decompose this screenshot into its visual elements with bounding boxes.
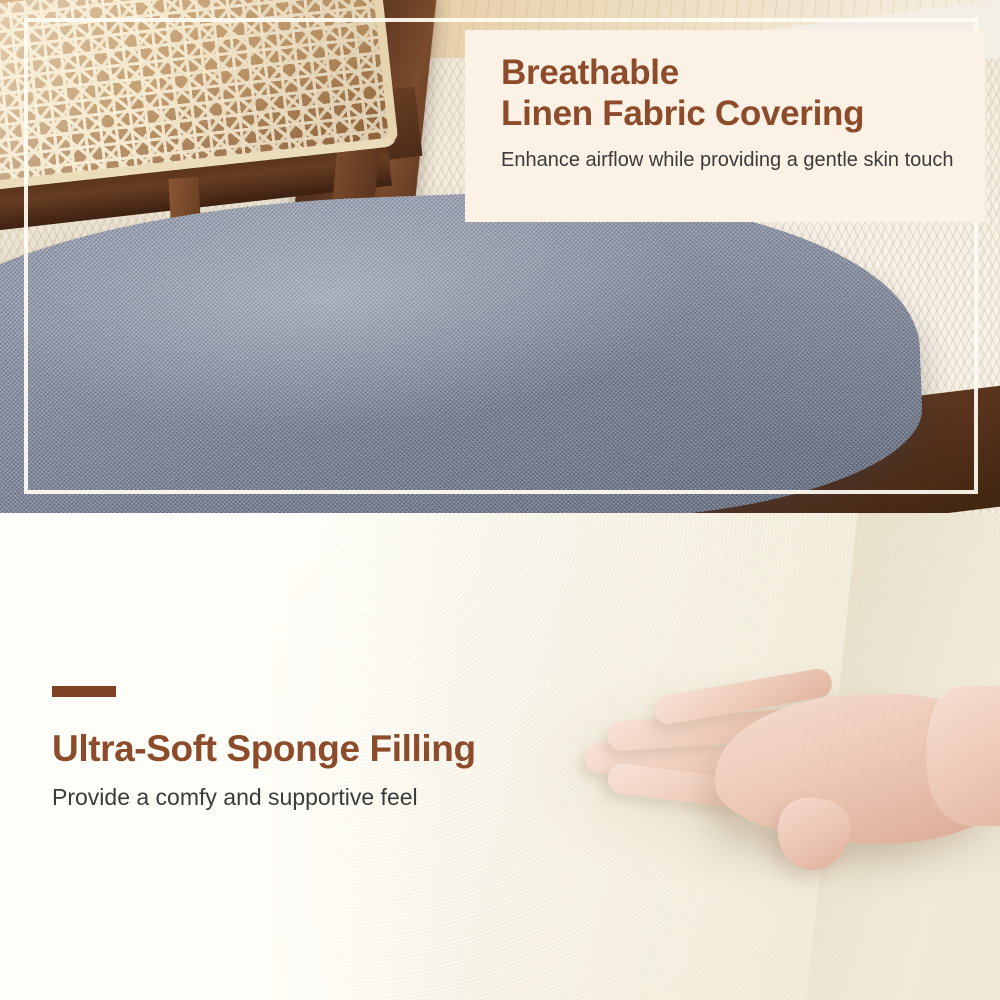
linen-feature-card: Breathable Linen Fabric Covering Enhance… <box>465 30 985 222</box>
hand-pressing-foam <box>545 648 1000 908</box>
linen-heading-line-2: Linen Fabric Covering <box>501 93 955 134</box>
wrist <box>927 686 1000 826</box>
linen-subtitle: Enhance airflow while providing a gentle… <box>501 146 955 175</box>
sponge-heading: Ultra-Soft Sponge Filling <box>52 729 612 770</box>
sponge-feature-text: Ultra-Soft Sponge Filling Provide a comf… <box>52 686 612 811</box>
sponge-subtitle: Provide a comfy and supportive feel <box>52 784 612 811</box>
top-feature-panel: Breathable Linen Fabric Covering Enhance… <box>0 0 1000 513</box>
linen-heading-line-1: Breathable <box>501 52 955 93</box>
accent-bar <box>52 686 116 697</box>
linen-heading: Breathable Linen Fabric Covering <box>501 52 955 135</box>
infographic-stage: Breathable Linen Fabric Covering Enhance… <box>0 0 1000 1000</box>
